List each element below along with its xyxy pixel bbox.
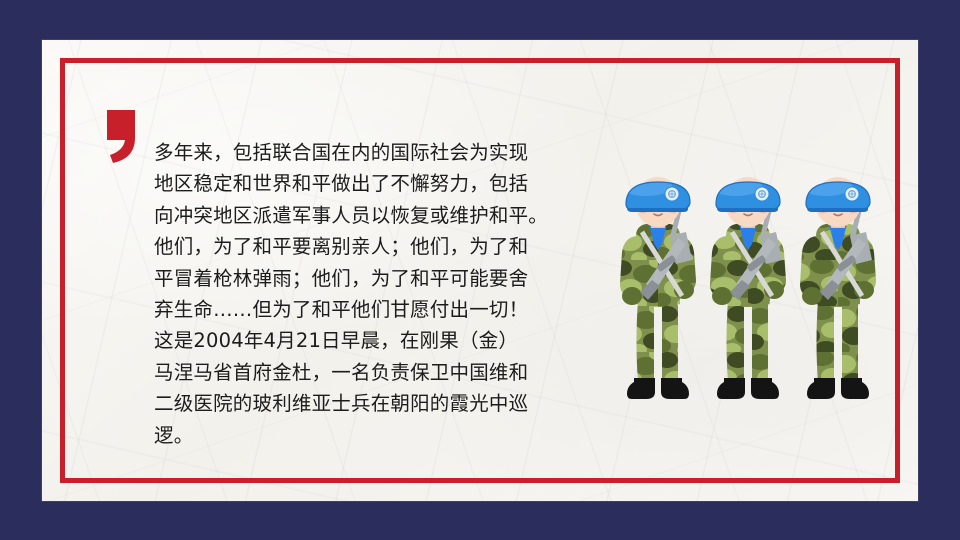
quotation-mark-icon (105, 108, 139, 164)
soldier-figure-1 (612, 168, 704, 416)
quote-body-text: 多年来，包括联合国在内的国际社会为实现 地区稳定和世界和平做出了不懈努力，包括 … (154, 137, 564, 451)
slide-root: 多年来，包括联合国在内的国际社会为实现 地区稳定和世界和平做出了不懈努力，包括 … (0, 0, 960, 540)
soldier-figure-3 (792, 168, 884, 416)
soldier-figure-2 (702, 168, 794, 416)
soldiers-illustration (604, 168, 892, 416)
